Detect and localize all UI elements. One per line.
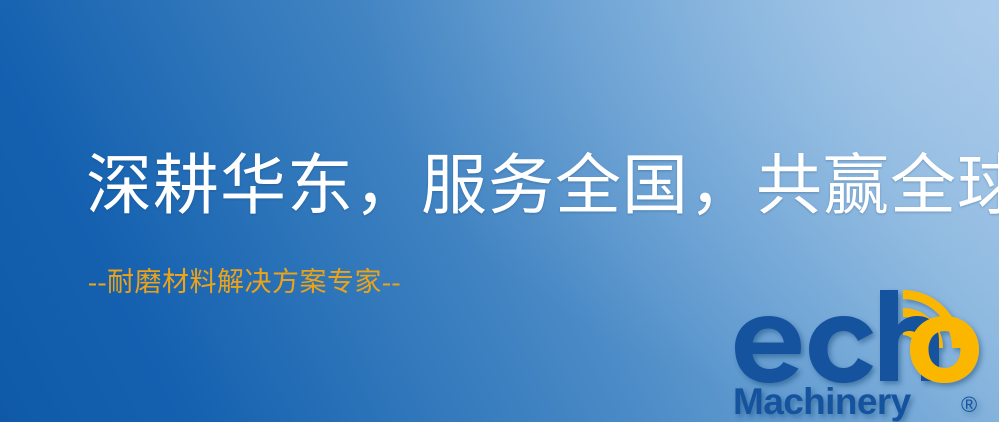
- logo-trademark-symbol: ®: [961, 392, 977, 417]
- logo-letter-e: [735, 316, 801, 383]
- logo-tagline: Machinery: [733, 381, 912, 422]
- echo-machinery-logo[interactable]: Machinery ®: [729, 290, 991, 418]
- logo-letter-o: [910, 316, 979, 383]
- banner-headline: 深耕华东，服务全国，共赢全球: [86, 152, 999, 221]
- promotional-banner: 深耕华东，服务全国，共赢全球 --耐磨材料解决方案专家--: [0, 0, 999, 422]
- logo-letter-c: [809, 316, 873, 383]
- banner-subtitle: --耐磨材料解决方案专家--: [88, 266, 401, 298]
